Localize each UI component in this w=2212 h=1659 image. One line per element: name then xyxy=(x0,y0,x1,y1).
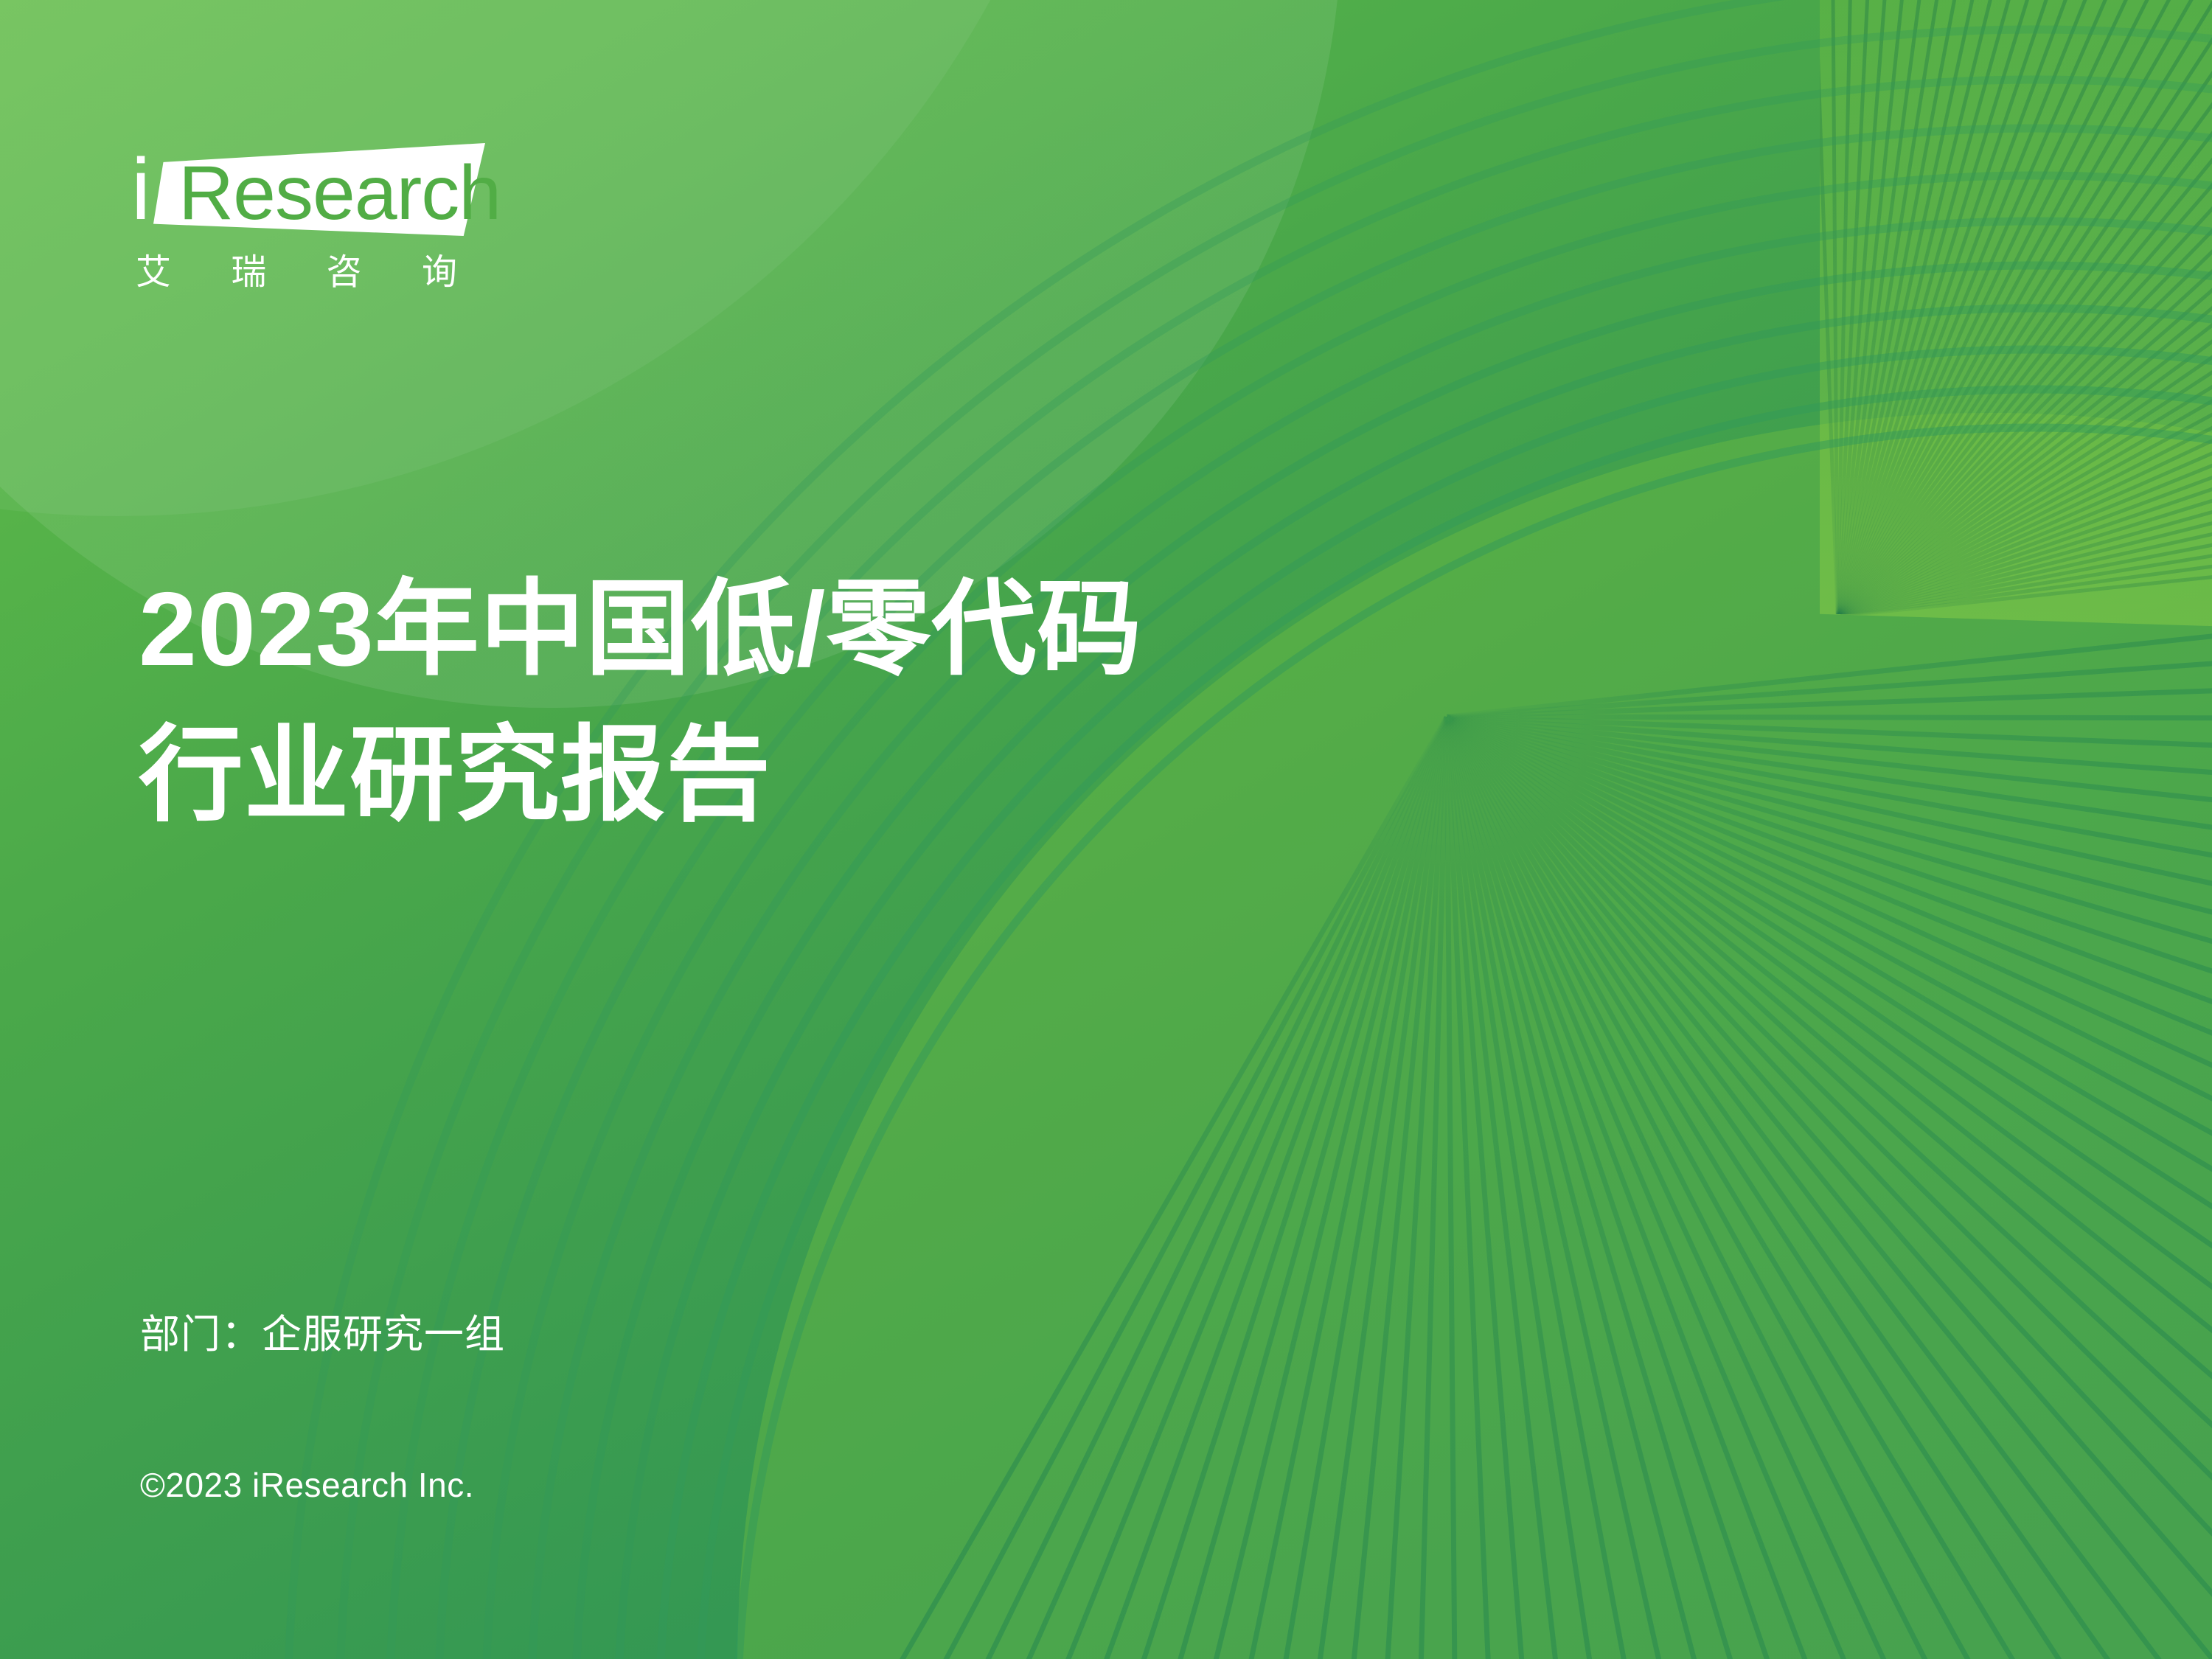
department-label: 部门：企服研究一组 xyxy=(140,1311,505,1358)
page-title: 2023年中国低/零代码 行业研究报告 xyxy=(139,568,1687,838)
iresearch-logo: i Research 艾 瑞 咨 询 xyxy=(131,137,515,307)
title-line-1: 2023年中国低/零代码 xyxy=(139,568,1687,692)
copyright-label: ©2023 iResearch Inc. xyxy=(140,1464,474,1506)
report-cover-page: i Research 艾 瑞 咨 询 2023年中国低/零代码 行业研究报告 部… xyxy=(0,0,2212,1659)
title-line-2: 行业研究报告 xyxy=(139,714,1687,838)
logo-chinese-name: 艾 瑞 咨 询 xyxy=(136,252,482,293)
logo-i-mark: i xyxy=(131,146,149,233)
logo-wordmark: Research xyxy=(178,155,501,232)
